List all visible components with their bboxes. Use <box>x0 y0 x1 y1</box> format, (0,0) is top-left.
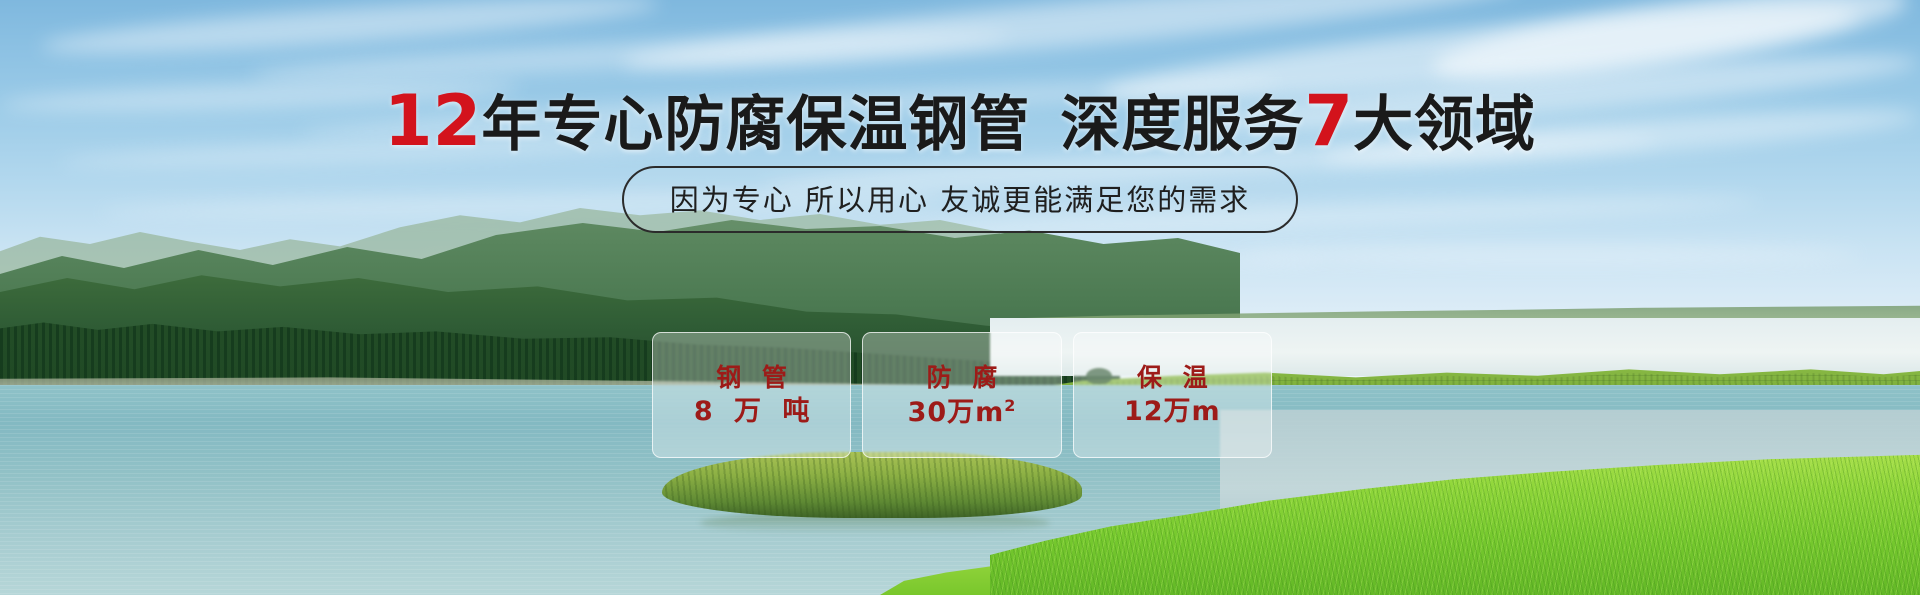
stat-card-value-main: 30万m <box>908 397 1005 428</box>
stat-card-value-superscript: 2 <box>1004 396 1016 415</box>
banner-subtitle-wrap: 因为专心 所以用心 友诚更能满足您的需求 <box>0 166 1920 233</box>
headline-part-one: 年专心防腐保温钢管 <box>481 90 1030 160</box>
stat-card-title: 保 温 <box>1131 365 1214 390</box>
stat-card-title: 钢 管 <box>710 365 793 390</box>
stat-card-value-main: 12万m <box>1124 396 1221 427</box>
stat-card-value: 12万m <box>1124 398 1221 425</box>
stat-card-value: 8 万 吨 <box>688 398 816 425</box>
stat-card-anticorrosion[interactable]: 防 腐 30万m2 <box>862 332 1061 458</box>
headline-part-three: 大领域 <box>1353 90 1536 160</box>
stat-card-insulation[interactable]: 保 温 12万m <box>1073 332 1272 458</box>
stat-card-value-main: 8 万 吨 <box>694 396 816 427</box>
stat-card-steel-pipe[interactable]: 钢 管 8 万 吨 <box>652 332 851 458</box>
stat-card-group: 钢 管 8 万 吨 防 腐 30万m2 保 温 12万m <box>652 332 1272 458</box>
banner-headline: 12年专心防腐保温钢管深度服务7大领域 <box>0 84 1920 162</box>
stat-card-title: 防 腐 <box>921 365 1004 390</box>
headline-part-two: 深度服务 <box>1060 90 1304 160</box>
cloud-wisp-icon <box>1240 246 1860 264</box>
grass-island-texture <box>662 452 1082 518</box>
stat-card-value: 30万m2 <box>908 398 1017 426</box>
headline-fields-number: 7 <box>1304 80 1353 162</box>
headline-years-number: 12 <box>384 80 481 162</box>
banner-subtitle-pill: 因为专心 所以用心 友诚更能满足您的需求 <box>622 166 1298 233</box>
hero-banner: 12年专心防腐保温钢管深度服务7大领域 因为专心 所以用心 友诚更能满足您的需求… <box>0 0 1920 595</box>
